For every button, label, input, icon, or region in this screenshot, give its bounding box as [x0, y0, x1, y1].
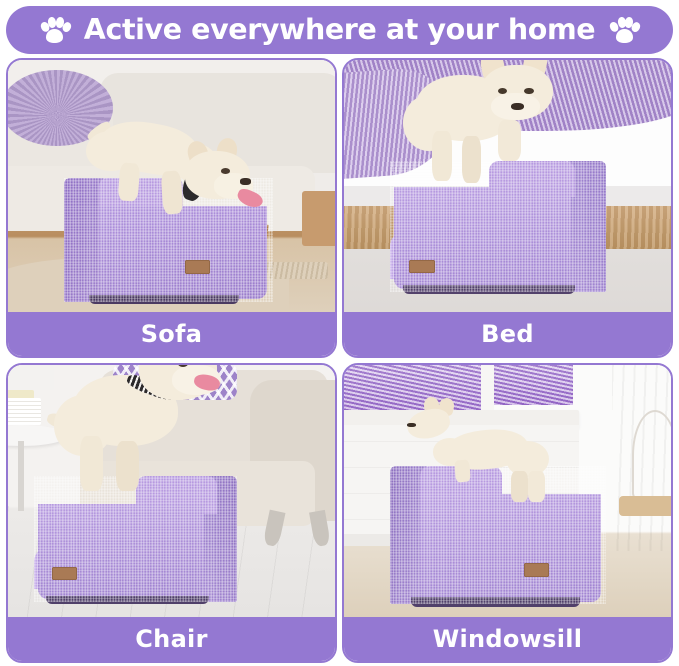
caption-label: Bed [481, 322, 534, 346]
dog-leg [528, 471, 545, 501]
pet-stairs-windowsill [390, 466, 606, 605]
panel-chair: Chair [6, 363, 337, 663]
photo-chair [8, 365, 335, 617]
page-title: Active everywhere at your home [84, 16, 595, 45]
side-table [302, 191, 335, 246]
pet-stairs-bed [390, 161, 606, 292]
header-banner: Active everywhere at your home [6, 6, 673, 54]
pet-stairs-chair [34, 476, 237, 602]
paw-print-icon-left [40, 16, 70, 44]
brand-logo-tag [409, 260, 435, 273]
dog-nose [240, 178, 251, 185]
caption-label: Chair [135, 627, 207, 651]
shelf [8, 365, 54, 390]
caption-label: Windowsill [433, 627, 583, 651]
photo-windowsill [344, 365, 671, 617]
caption-bar-chair: Chair [8, 617, 335, 661]
panel-bed: Bed [342, 58, 673, 358]
dog-leg [511, 471, 528, 501]
dog-nose [407, 423, 416, 427]
table-leg [18, 441, 25, 512]
background-chair [632, 410, 671, 501]
brand-logo-tag [524, 563, 550, 577]
panel-sofa: Sofa [6, 58, 337, 358]
panel-grid: Sofa [6, 58, 673, 662]
dog-leg [80, 436, 103, 491]
window-pane-lavender [344, 365, 481, 415]
dog-nose [511, 103, 524, 111]
brand-logo-tag [52, 567, 76, 581]
book-stack [8, 398, 41, 426]
photo-sofa [8, 60, 335, 312]
dog-leg [454, 460, 471, 483]
window-pane-lavender [494, 365, 572, 405]
caption-bar-bed: Bed [344, 312, 671, 356]
dog-leg [462, 136, 482, 184]
dog-leg [116, 441, 139, 491]
dog-leg [432, 131, 452, 181]
paw-print-icon-right [609, 16, 639, 44]
dog-leg [498, 120, 521, 160]
panel-windowsill: Windowsill [342, 363, 673, 663]
photo-bed [344, 60, 671, 312]
dog-leg [160, 170, 183, 214]
caption-bar-windowsill: Windowsill [344, 617, 671, 661]
dog-leg [118, 163, 140, 202]
dog-eye [524, 88, 534, 95]
caption-bar-sofa: Sofa [8, 312, 335, 356]
brand-logo-tag [185, 260, 210, 274]
caption-label: Sofa [141, 322, 203, 346]
wooden-stool [619, 496, 671, 516]
